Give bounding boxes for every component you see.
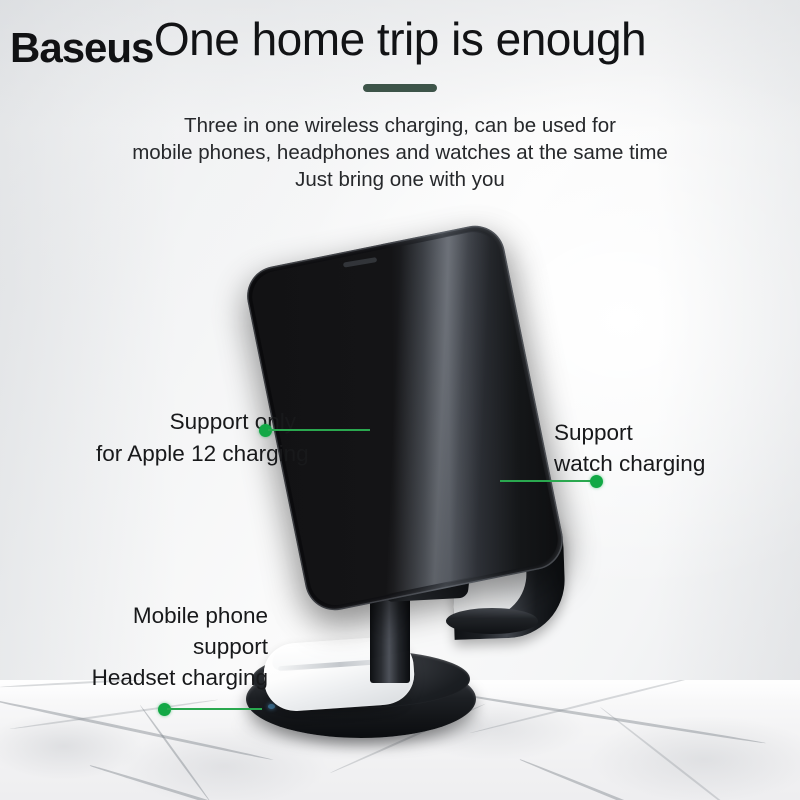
- marble-vein: [90, 764, 339, 800]
- watch-ledge: [446, 608, 538, 634]
- brand-logo: Baseus: [10, 24, 153, 72]
- watch-hinge: [451, 480, 488, 513]
- marble-vein: [330, 703, 486, 774]
- callout-watch-line-1: Support: [554, 417, 784, 448]
- marble-desk-surface: [0, 680, 800, 800]
- stand-column-top: [368, 566, 412, 584]
- callout-phone-line-2: for Apple 12 charging: [96, 438, 296, 470]
- callout-phone-leader-line: [268, 429, 370, 431]
- callout-headset-line-2: support: [62, 631, 268, 662]
- stand-column: [370, 575, 410, 683]
- callout-watch-support: Support watch charging: [554, 417, 784, 479]
- phone-glare: [251, 227, 561, 608]
- magsafe-pad-arm: [385, 468, 481, 602]
- product-marketing-image: Baseus One home trip is enough Three in …: [0, 0, 800, 800]
- subtitle-line-3: Just bring one with you: [0, 166, 800, 193]
- marble-vein: [139, 704, 211, 800]
- watch-strap: [449, 486, 566, 640]
- marble-vein: [470, 680, 713, 734]
- callout-headset-line-1: Mobile phone: [62, 600, 268, 631]
- title-divider: [363, 84, 437, 92]
- earbuds-case-lid: [271, 639, 408, 670]
- phone-notch: [343, 257, 377, 268]
- watch-strap-inner: [450, 507, 528, 620]
- watch-face: [469, 470, 542, 495]
- earbuds-case-seam: [278, 658, 402, 672]
- subtitle-line-2: mobile phones, headphones and watches at…: [0, 139, 800, 166]
- callout-headset-support: Mobile phone support Headset charging: [62, 600, 268, 693]
- callout-watch-line-2: watch charging: [554, 448, 784, 479]
- callout-headset-leader-line: [167, 708, 262, 710]
- callout-phone-support: Support only for Apple 12 charging: [96, 406, 296, 470]
- subtitle-line-1: Three in one wireless charging, can be u…: [0, 112, 800, 139]
- subtitle-block: Three in one wireless charging, can be u…: [0, 112, 800, 193]
- callout-watch-leader-line: [500, 480, 596, 482]
- marble-vein: [520, 758, 799, 800]
- marble-vein: [0, 696, 274, 761]
- smartwatch: [460, 465, 550, 509]
- callout-headset-line-3: Headset charging: [62, 662, 268, 693]
- callout-watch-marker-dot: [590, 475, 603, 488]
